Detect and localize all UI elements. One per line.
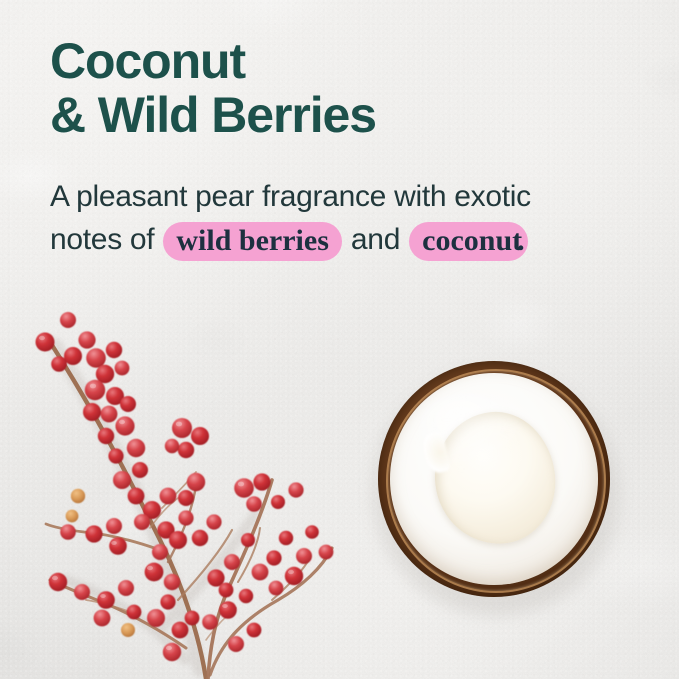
text-block: Coconut & Wild Berries A pleasant pear f…: [50, 34, 640, 261]
subtitle-prefix: notes of: [50, 223, 154, 256]
coconut-gloss-highlight: [417, 392, 527, 472]
coconut-half-image: [362, 347, 626, 617]
product-fragrance-banner: Coconut & Wild Berries A pleasant pear f…: [0, 0, 679, 679]
page-title-line-1: Coconut: [50, 34, 640, 88]
subtitle-period: .: [517, 224, 524, 257]
highlight-pill-wild-berries: wild berries: [163, 222, 341, 261]
berry-branch-svg: [10, 300, 355, 679]
page-title-line-2: & Wild Berries: [50, 88, 640, 142]
wild-berry-branch-image: [10, 300, 355, 679]
page-subtitle-line-2: notes of wild berries and coconut.: [50, 218, 640, 261]
highlight-pill-coconut: coconut: [409, 222, 528, 261]
subtitle-conjunction: and: [351, 223, 400, 256]
page-title: Coconut & Wild Berries: [50, 34, 640, 142]
page-subtitle-line-1: A pleasant pear fragrance with exotic: [50, 175, 640, 218]
page-subtitle: A pleasant pear fragrance with exotic no…: [50, 142, 640, 261]
